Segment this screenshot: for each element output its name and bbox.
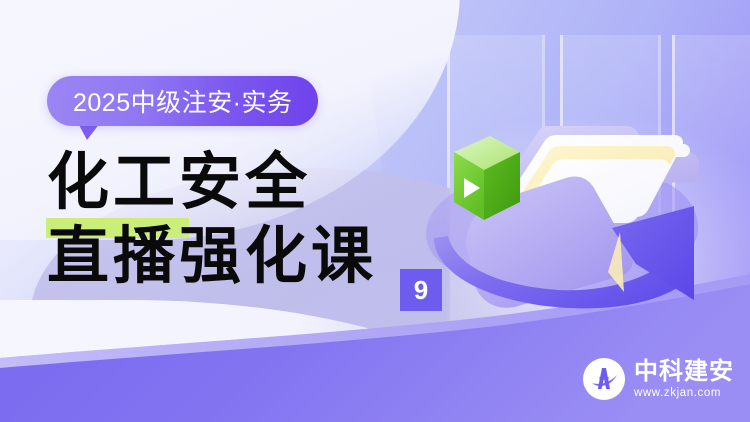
brand-logo[interactable]: 中科建安 www.zkjan.com	[583, 358, 734, 400]
course-category-badge-label: 2025中级注安·实务	[73, 83, 292, 119]
course-category-badge: 2025中级注安·实务	[47, 76, 318, 126]
hero-illustration	[398, 86, 728, 346]
course-poster: 2025中级注安·实务 化工安全 直播强化课 9 中科建安 www.zkjan.…	[0, 0, 750, 422]
zkjan-logo-mark-icon	[583, 358, 625, 400]
brand-logo-text: 中科建安 www.zkjan.com	[634, 359, 734, 400]
episode-number-badge-label: 9	[414, 275, 428, 306]
headline-line-2: 直播强化课	[47, 222, 377, 290]
brand-name: 中科建安	[634, 359, 734, 385]
episode-number-badge: 9	[400, 269, 442, 311]
headline-block: 化工安全 直播强化课	[47, 148, 377, 290]
headline-line-1: 化工安全	[47, 148, 377, 216]
brand-url: www.zkjan.com	[634, 386, 734, 400]
